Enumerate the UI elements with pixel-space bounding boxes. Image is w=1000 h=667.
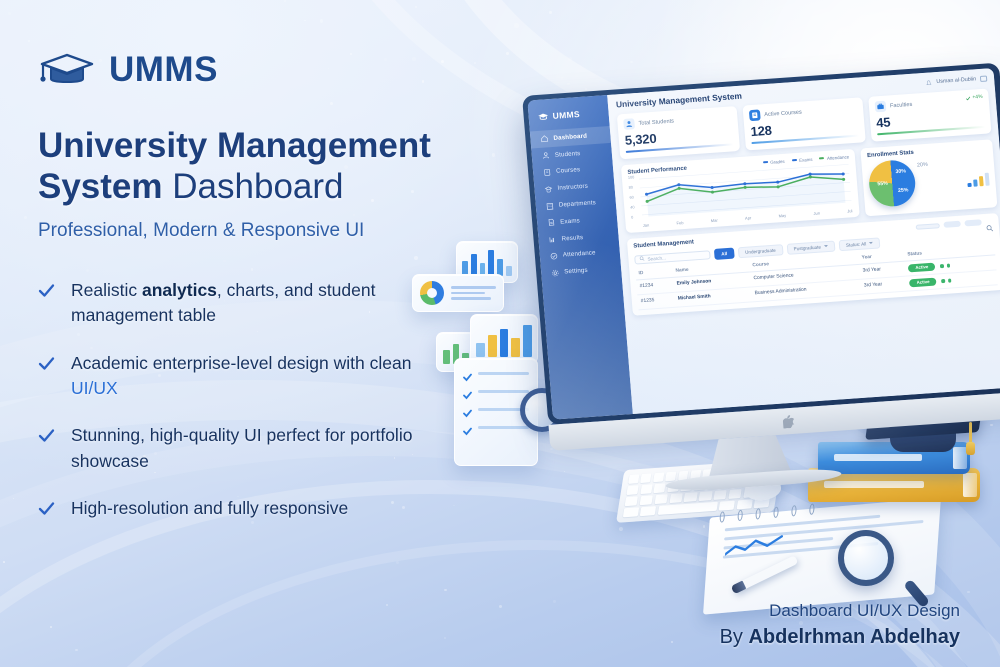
kpi-card-faculties: +4%Faculties45: [868, 88, 991, 141]
dashboard-user-area[interactable]: Usman al-Dublin: [925, 75, 987, 86]
search-icon: [639, 256, 644, 262]
sidebar-item-label: Courses: [556, 167, 581, 176]
y-tick: 100: [628, 176, 638, 180]
pie-outside-label: 20%: [917, 161, 928, 168]
student-performance-panel: Student Performance GradesExamsAttendanc…: [621, 149, 860, 233]
kpi-delta: +4%: [965, 94, 983, 101]
kpi-label: Faculties: [890, 101, 913, 109]
pie-slice-label: 30%: [895, 168, 906, 175]
title-line-2-bold: System: [38, 167, 163, 206]
sidebar-item-label: Settings: [564, 267, 588, 276]
x-tick: May: [778, 212, 786, 218]
user-icon: [623, 118, 635, 130]
sidebar-item-label: Exams: [560, 217, 580, 225]
feature-text-pre: Realistic: [71, 280, 142, 300]
sidebar-item-label: Departments: [559, 199, 597, 209]
graduation-cap-icon: [537, 112, 549, 121]
apple-logo-icon: [782, 414, 794, 428]
search-input[interactable]: Search...: [634, 250, 711, 264]
x-tick: Jun: [813, 210, 820, 215]
row-actions[interactable]: [940, 264, 950, 268]
pie-chart: 55% 30% 25%: [868, 158, 918, 207]
status-badge: Active: [908, 262, 935, 272]
book-stack: [808, 428, 983, 506]
title-line-1: University Management: [38, 126, 508, 167]
mini-bar: [973, 179, 978, 186]
document-icon: [547, 218, 556, 227]
sidebar-menu: DashboardStudentsCoursesInstructorsDepar…: [530, 126, 622, 282]
mini-bar-chart: [966, 167, 989, 186]
feature-text: Realistic analytics, charts, and student…: [71, 278, 431, 329]
brand-logo: UMMS: [38, 50, 508, 90]
filter-chip-status-all[interactable]: Status: All: [838, 237, 880, 251]
action-button[interactable]: [943, 221, 960, 228]
user-name-label: Usman al-Dublin: [936, 76, 976, 85]
credits-by-label: By: [720, 626, 749, 648]
row-actions[interactable]: [941, 279, 951, 283]
kpi-label: Total Students: [638, 118, 674, 126]
pie-slice-label: 55%: [877, 180, 888, 187]
feature-text: High-resolution and fully responsive: [71, 496, 348, 521]
sidebar-brand-label: UMMS: [552, 109, 580, 121]
check-circle-icon: [550, 252, 559, 261]
kpi-label: Active Courses: [764, 109, 802, 118]
cell-id: #1235: [637, 292, 675, 310]
filter-chip-all[interactable]: All: [714, 247, 735, 259]
chevron-down-icon: [824, 245, 828, 247]
notebook-sparkline: [725, 533, 790, 559]
action-button[interactable]: [964, 219, 981, 226]
magnifier-icon: [838, 530, 916, 608]
x-tick: Jan: [643, 222, 650, 227]
monitor-bezel: UMMS DashboardStudentsCoursesInstructors…: [522, 63, 1000, 425]
check-icon: [38, 500, 55, 517]
gear-icon: [551, 268, 560, 277]
pie-slice-label: 25%: [898, 187, 909, 194]
search-icon[interactable]: [985, 218, 993, 225]
user-icon: [542, 151, 551, 160]
y-tick: 60: [629, 196, 639, 200]
pie-chart-area: 55% 30% 25% 20%: [868, 153, 991, 207]
credits: Dashboard UI/UX Design By Abdelrhman Abd…: [720, 601, 960, 649]
book-icon: [543, 168, 552, 177]
mini-bar: [967, 182, 971, 186]
feature-text-accent: UI/UX: [71, 378, 118, 398]
feature-item: Academic enterprise-level design with cl…: [38, 351, 508, 402]
page-title: University Management System Dashboard: [38, 126, 508, 208]
building-icon: [546, 202, 555, 211]
dashboard-screen: UMMS DashboardStudentsCoursesInstructors…: [527, 68, 1000, 420]
title-line-2: System Dashboard: [38, 167, 508, 208]
mini-bar: [979, 176, 984, 186]
x-tick: Mar: [711, 217, 718, 222]
book-icon: [749, 109, 761, 121]
kpi-card-total-students: Total Students5,320: [617, 106, 740, 159]
mini-bar: [985, 172, 990, 185]
dashboard-main: University Management System Usman al-Du…: [607, 68, 1000, 414]
feature-text: Academic enterprise-level design with cl…: [71, 351, 431, 402]
filter-chip-postgraduate[interactable]: Postgraduate: [786, 240, 835, 254]
filter-chip-label: Undergraduate: [745, 247, 776, 254]
legend-label: Grades: [770, 158, 785, 164]
briefcase-icon: [875, 101, 887, 113]
sidebar-item-label: Students: [555, 150, 581, 159]
table-actions: [915, 218, 992, 230]
filter-chip-label: Postgraduate: [793, 244, 821, 251]
home-icon: [540, 135, 549, 144]
kpi-card-active-courses: Active Courses128: [742, 97, 865, 150]
y-tick: 0: [631, 216, 641, 220]
sidebar-item-label: Dashboard: [553, 132, 587, 141]
legend-label: Exams: [799, 156, 813, 162]
bar-chart-icon: [548, 235, 557, 244]
credits-line-2: By Abdelrhman Abdelhay: [720, 626, 960, 649]
table-title: Student Management: [633, 239, 694, 249]
check-icon: [38, 355, 55, 372]
sidebar-item-label: Attendance: [563, 250, 596, 259]
y-tick: 40: [630, 206, 640, 210]
notification-bell-icon[interactable]: [925, 79, 933, 86]
sidebar-item-label: Instructors: [557, 183, 588, 192]
filter-chip-label: Status: All: [846, 241, 867, 247]
credits-author-name: Abdelrhman Abdelhay: [748, 626, 960, 648]
page-subtitle: Professional, Modern & Responsive UI: [38, 220, 508, 242]
search-placeholder: Search...: [647, 255, 666, 261]
credits-line-1: Dashboard UI/UX Design: [720, 601, 960, 621]
x-tick: Feb: [676, 220, 683, 225]
x-tick: Jul: [847, 208, 853, 213]
filter-chip-label: All: [721, 251, 727, 256]
enrollment-stats-panel: Enrollment Stats 55% 30% 25% 20%: [860, 139, 997, 216]
x-tick: Apr: [745, 215, 752, 220]
desktop-monitor: UMMS DashboardStudentsCoursesInstructors…: [522, 63, 1000, 425]
brand-name: UMMS: [109, 50, 218, 90]
feature-text-pre: Academic enterprise-level design with cl…: [71, 353, 411, 373]
filter-field[interactable]: [916, 223, 940, 230]
message-icon[interactable]: [980, 76, 987, 82]
check-icon: [38, 282, 55, 299]
title-line-2-light: Dashboard: [172, 167, 343, 206]
y-tick: 80: [629, 186, 639, 190]
graduation-cap-icon: [38, 50, 96, 90]
status-badge: Active: [909, 277, 936, 287]
feature-list: Realistic analytics, charts, and student…: [38, 278, 508, 522]
teacher-icon: [544, 185, 553, 194]
feature-item: Realistic analytics, charts, and student…: [38, 278, 508, 329]
cell-year: 3rd Year: [860, 276, 907, 294]
chevron-down-icon: [869, 242, 873, 244]
hero-panel: UMMS University Management System Dashbo…: [38, 50, 508, 522]
feature-item: Stunning, high-quality UI perfect for po…: [38, 423, 508, 474]
feature-text: Stunning, high-quality UI perfect for po…: [71, 423, 431, 474]
filter-chip-undergraduate[interactable]: Undergraduate: [738, 244, 783, 258]
check-icon: [38, 427, 55, 444]
feature-item: High-resolution and fully responsive: [38, 496, 508, 521]
sidebar-item-label: Results: [561, 234, 583, 242]
feature-text-bold: analytics: [142, 280, 217, 300]
